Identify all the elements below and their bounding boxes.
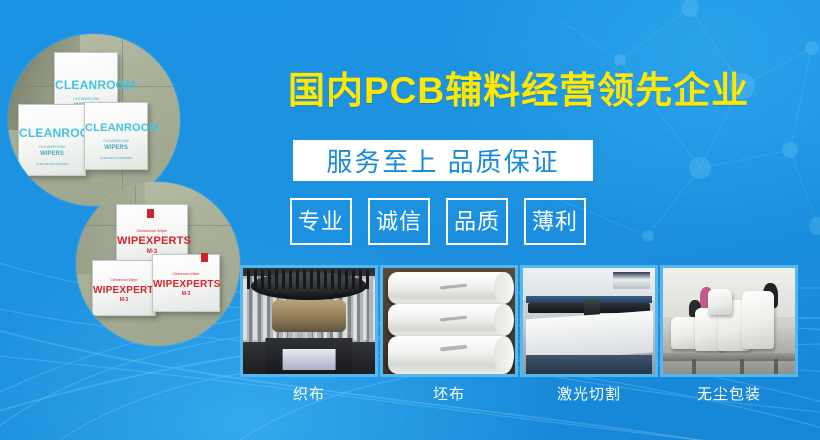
product-photo-cleanroom-wipes: CLEANROOM CLEANROOM WIPERS CLEANROOM WIP…: [8, 34, 180, 206]
keyword-box-3[interactable]: 品质: [446, 198, 508, 245]
promo-banner: CLEANROOM CLEANROOM WIPERS CLEANROOM WIP…: [0, 0, 820, 440]
keyword-label: 诚信: [376, 211, 422, 233]
keyword-label: 专业: [298, 211, 344, 233]
process-item-greige-fabric[interactable]: 坯布: [380, 265, 518, 404]
process-label: 织布: [240, 383, 378, 404]
process-item-cleanroom-packing[interactable]: 无尘包装: [660, 265, 798, 404]
keyword-box-4[interactable]: 薄利: [524, 198, 586, 245]
slogan-text: 服务至上 品质保证: [326, 142, 559, 179]
keyword-box-1[interactable]: 专业: [290, 198, 352, 245]
process-label: 无尘包装: [660, 383, 798, 404]
keyword-label: 薄利: [532, 211, 578, 233]
process-photo-greige-fabric-rolls: [380, 265, 518, 377]
process-photo-laser-cutting-machine: [520, 265, 658, 377]
slogan-bar: 服务至上 品质保证: [293, 140, 593, 181]
process-photo-cleanroom-packing: [660, 265, 798, 377]
keyword-box-2[interactable]: 诚信: [368, 198, 430, 245]
process-item-laser-cutting[interactable]: 激光切割: [520, 265, 658, 404]
keyword-list: 专业 诚信 品质 薄利: [290, 198, 586, 245]
product-photo-wipexperts: Cleanroom Wiper WIPEXPERTS M-3 Cleanroom…: [76, 182, 240, 346]
process-photo-circular-knitting-machine: [240, 265, 378, 377]
process-thumbnail-list: 织布 坯布 激光切割: [240, 265, 798, 404]
page-title: 国内PCB辅料经营领先企业: [288, 72, 788, 109]
keyword-label: 品质: [454, 211, 500, 233]
process-label: 激光切割: [520, 383, 658, 404]
process-label: 坯布: [380, 383, 518, 404]
process-item-weaving[interactable]: 织布: [240, 265, 378, 404]
